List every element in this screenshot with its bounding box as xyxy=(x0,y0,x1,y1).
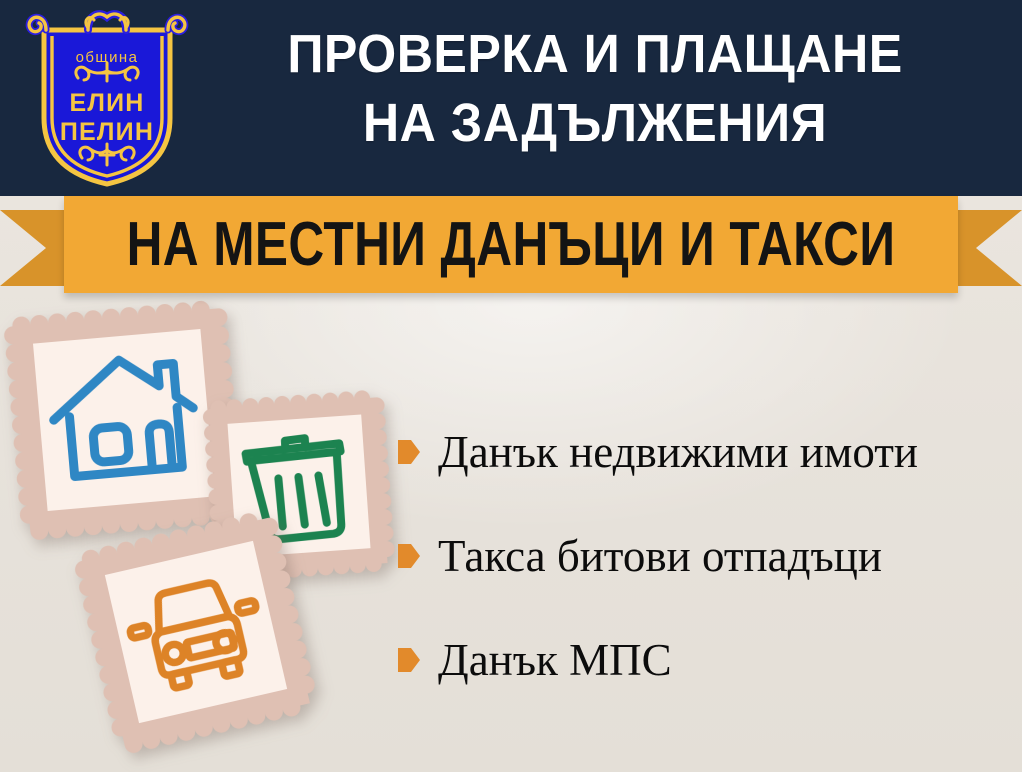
municipality-logo: община ЕЛИН ПЕЛИН xyxy=(22,8,192,190)
tax-types-list: Данък недвижими имоти Такса битови отпад… xyxy=(398,424,1018,736)
list-item: Такса битови отпадъци xyxy=(398,528,1018,632)
svg-text:ЕЛИН: ЕЛИН xyxy=(69,89,144,117)
svg-text:ПЕЛИН: ПЕЛИН xyxy=(60,118,154,146)
page-title: ПРОВЕРКА И ПЛАЩАНЕ НА ЗАДЪЛЖЕНИЯ xyxy=(214,20,977,158)
ribbon-banner: НА МЕСТНИ ДАНЪЦИ И ТАКСИ xyxy=(0,196,1022,300)
arrow-bullet-icon xyxy=(398,544,420,568)
poster-canvas: община ЕЛИН ПЕЛИН xyxy=(0,0,1022,772)
header-bar: община ЕЛИН ПЕЛИН xyxy=(0,0,1022,196)
list-item-label: Данък недвижими имоти xyxy=(438,424,918,480)
arrow-bullet-icon xyxy=(398,648,420,672)
ribbon-subtitle: НА МЕСТНИ ДАНЪЦИ И ТАКСИ xyxy=(153,196,868,293)
list-item: Данък МПС xyxy=(398,632,1018,736)
arrow-bullet-icon xyxy=(398,440,420,464)
list-item-label: Данък МПС xyxy=(438,632,672,688)
list-item: Данък недвижими имоти xyxy=(398,424,1018,528)
list-item-label: Такса битови отпадъци xyxy=(438,528,882,584)
